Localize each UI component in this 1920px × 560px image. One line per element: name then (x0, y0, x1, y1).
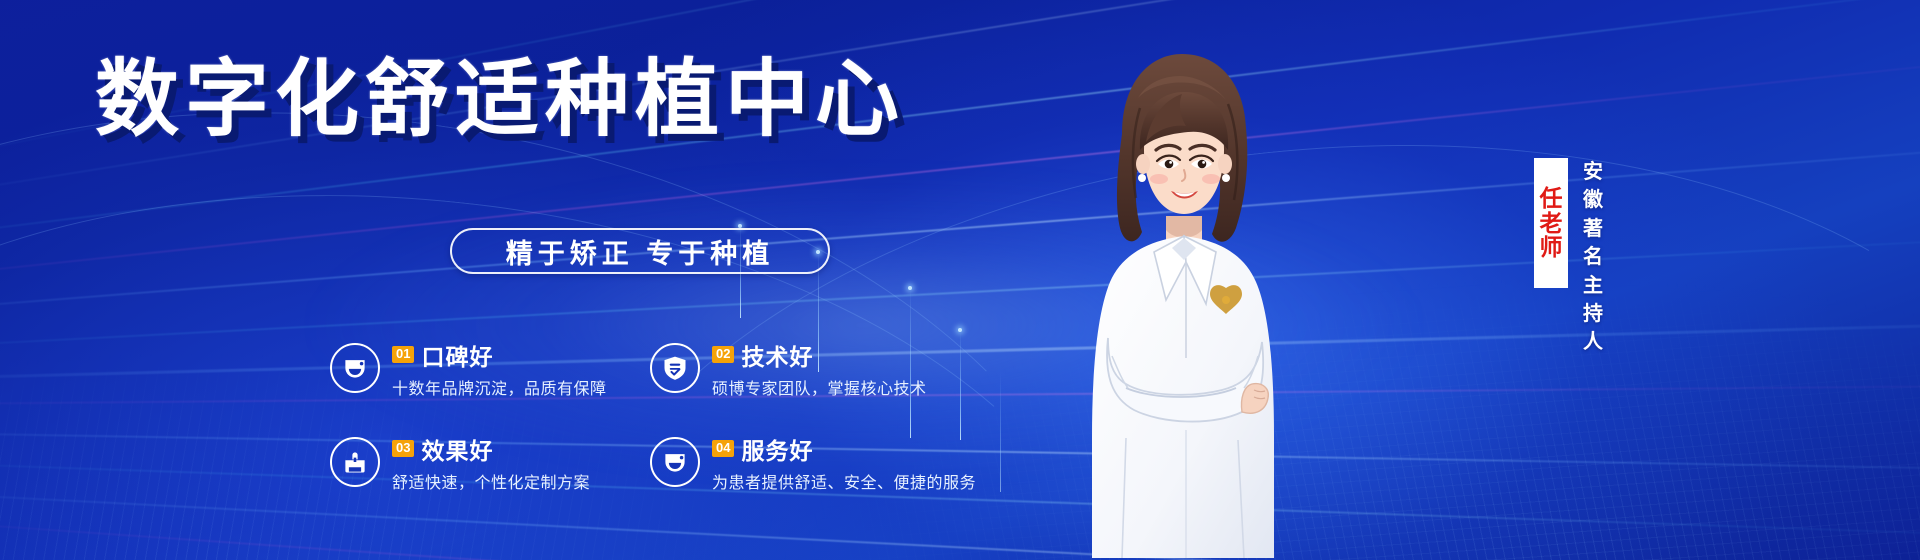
feature-description: 硕博专家团队，掌握核心技术 (712, 375, 927, 399)
vertical-char-5: 主 (1583, 272, 1603, 300)
feature-number-badge: 01 (392, 346, 414, 363)
feature-heading-04: 04 服务好 (712, 432, 976, 466)
vertical-char-7: 人 (1583, 328, 1603, 356)
feature-item-01: 01 口碑好 十数年品牌沉淀，品质有保障 (330, 332, 640, 404)
vertical-char-3: 著 (1583, 215, 1603, 243)
feature-item-04: 04 服务好 为患者提供舒适、安全、便捷的服务 (650, 426, 980, 498)
shield-check-icon (650, 343, 700, 393)
feature-item-02: 02 技术好 硕博专家团队，掌握核心技术 (650, 332, 980, 404)
smile-face-icon (330, 343, 380, 393)
feature-item-03: 03 效果好 舒适快速，个性化定制方案 (330, 426, 640, 498)
feature-number-badge: 02 (712, 346, 734, 363)
vertical-char-2: 徽 (1583, 186, 1603, 214)
plaque-char-2: 老 (1540, 211, 1563, 236)
feature-title: 口碑好 (421, 338, 493, 372)
feature-heading-03: 03 效果好 (392, 432, 590, 466)
banner-title: 数字化舒适种植中心 (0, 52, 1000, 146)
feature-text-04: 04 服务好 为患者提供舒适、安全、便捷的服务 (712, 432, 976, 493)
feature-title: 服务好 (741, 432, 813, 466)
plaque-char-3: 师 (1540, 235, 1563, 260)
dental-clinic-banner: 数字化舒适种植中心 精于矫正 专于种植 01 口碑好 (0, 0, 1920, 560)
feature-description: 舒适快速，个性化定制方案 (392, 469, 590, 493)
feature-heading-02: 02 技术好 (712, 338, 927, 372)
feature-number-badge: 03 (392, 440, 414, 457)
subtitle-pill: 精于矫正 专于种植 (450, 228, 830, 274)
smile-chat-icon (650, 437, 700, 487)
feature-title: 技术好 (741, 338, 813, 372)
banner-content: 数字化舒适种植中心 精于矫正 专于种植 01 口碑好 (0, 0, 1180, 560)
plaque-char-1: 任 (1540, 186, 1563, 211)
thumbs-up-icon (330, 437, 380, 487)
doctor-illustration (1030, 38, 1330, 560)
feature-text-02: 02 技术好 硕博专家团队，掌握核心技术 (712, 338, 927, 399)
feature-heading-01: 01 口碑好 (392, 338, 607, 372)
feature-description: 十数年品牌沉淀，品质有保障 (392, 375, 607, 399)
feature-title: 效果好 (421, 432, 493, 466)
presenter-name-plaque: 任 老 师 (1534, 158, 1568, 288)
feature-description: 为患者提供舒适、安全、便捷的服务 (712, 469, 976, 493)
feature-number-badge: 04 (712, 440, 734, 457)
feature-text-01: 01 口碑好 十数年品牌沉淀，品质有保障 (392, 338, 607, 399)
vertical-char-1: 安 (1583, 158, 1603, 186)
vertical-char-6: 持 (1583, 300, 1603, 328)
feature-text-03: 03 效果好 舒适快速，个性化定制方案 (392, 432, 590, 493)
vertical-char-4: 名 (1583, 243, 1603, 271)
subtitle-pill-label: 精于矫正 专于种植 (506, 232, 775, 271)
presenter-vertical-caption: 安 徽 著 名 主 持 人 (1576, 158, 1610, 357)
